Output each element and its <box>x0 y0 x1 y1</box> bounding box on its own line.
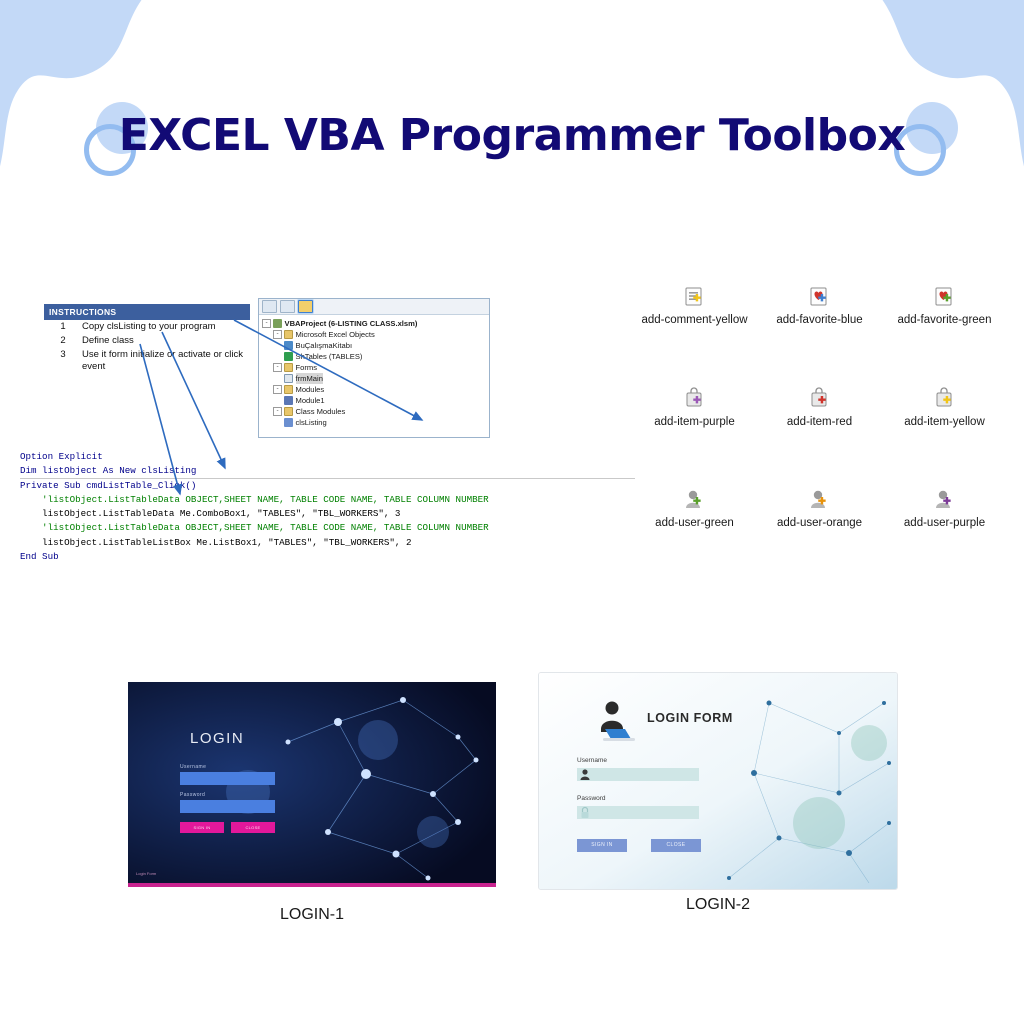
login-1-thumbnail[interactable]: LOGIN Username Password SIGN IN CLOSE Lo… <box>128 682 496 887</box>
add-user-green-icon <box>682 487 708 513</box>
instruction-row: 3Use it form initialize or activate or c… <box>44 348 250 374</box>
module-icon <box>284 396 293 405</box>
view-code-button[interactable] <box>262 300 277 313</box>
instructions-panel: INSTRUCTIONS 1Copy clsListing to your pr… <box>44 304 250 374</box>
icon-holder <box>632 282 757 310</box>
add-comment-yellow-icon <box>682 284 708 310</box>
login-1-title: LOGIN <box>190 730 244 747</box>
icon-grid-row: add-user-greenadd-user-orangeadd-user-pu… <box>632 485 1008 531</box>
view-object-button[interactable] <box>280 300 295 313</box>
tree-node-label: Module1 <box>296 395 325 406</box>
tree-expander[interactable]: - <box>273 330 282 339</box>
tree-node[interactable]: -Forms <box>262 362 487 373</box>
login-2-close-label: CLOSE <box>651 839 701 852</box>
code-line: Option Explicit <box>20 450 635 464</box>
login-1-form: LOGIN Username Password SIGN IN CLOSE Lo… <box>128 682 496 887</box>
login-2-sign-in-button[interactable]: SIGN IN <box>577 839 627 852</box>
icon-label: add-user-orange <box>757 516 882 531</box>
icon-holder <box>757 282 882 310</box>
tree-node-label: Forms <box>296 362 318 373</box>
login-2-title: LOGIN FORM <box>647 711 733 725</box>
tree-node[interactable]: BuÇalışmaKitabı <box>262 340 487 351</box>
icon-holder <box>632 485 757 513</box>
add-item-yellow-icon <box>932 386 958 412</box>
login-1-footer: Login Form <box>136 871 156 876</box>
code-line: 'listObject.ListTableData OBJECT,SHEET N… <box>20 493 635 507</box>
tree-node-label: BuÇalışmaKitabı <box>296 340 353 351</box>
instruction-text: Copy clsListing to your program <box>82 321 250 333</box>
folder-icon <box>284 330 293 339</box>
icon-holder <box>757 485 882 513</box>
tree-node-label: Class Modules <box>296 406 346 417</box>
folder-icon <box>284 363 293 372</box>
page-title: EXCEL VBA Programmer Toolbox <box>0 110 1024 161</box>
tree-node-label: ShTables (TABLES) <box>296 351 363 362</box>
icon-grid-row: add-comment-yellowadd-favorite-blueadd-f… <box>632 282 1008 328</box>
workbook-icon <box>284 341 293 350</box>
icon-grid-cell[interactable]: add-user-orange <box>757 485 882 531</box>
instruction-text: Use it form initialize or activate or cl… <box>82 349 250 373</box>
icon-holder <box>882 384 1007 412</box>
instructions-header: INSTRUCTIONS <box>44 304 250 320</box>
icon-label: add-item-purple <box>632 415 757 430</box>
tree-node[interactable]: clsListing <box>262 417 487 428</box>
tree-node-label: clsListing <box>296 417 327 428</box>
login-1-password-input[interactable] <box>180 800 275 813</box>
login-2-close-button[interactable]: CLOSE <box>651 839 701 852</box>
tree-node-label: frmMain <box>296 373 323 384</box>
tree-node-label: Microsoft Excel Objects <box>296 329 375 340</box>
add-user-purple-icon <box>932 487 958 513</box>
login-2-form: LOGIN FORM Username Password SIGN IN CLO… <box>538 672 898 890</box>
login-1-close-button[interactable]: CLOSE <box>231 822 275 833</box>
login-2-username-label: Username <box>577 757 607 764</box>
lock-icon <box>579 806 591 819</box>
person-icon <box>579 768 591 781</box>
icon-holder <box>882 485 1007 513</box>
instruction-number: 1 <box>44 321 82 333</box>
add-user-orange-icon <box>807 487 833 513</box>
code-line: listObject.ListTableListBox Me.ListBox1,… <box>20 536 635 550</box>
tree-expander[interactable]: - <box>273 407 282 416</box>
icon-label: add-user-purple <box>882 516 1007 531</box>
code-editor[interactable]: Option ExplicitDim listObject As New cls… <box>20 450 635 564</box>
user-laptop-icon <box>591 699 637 745</box>
code-line: End Sub <box>20 550 635 564</box>
icon-label: add-favorite-green <box>882 313 1007 328</box>
icon-grid: add-comment-yellowadd-favorite-blueadd-f… <box>632 282 1008 587</box>
login-2-password-input[interactable] <box>577 806 699 819</box>
instruction-text: Define class <box>82 335 250 347</box>
add-item-purple-icon <box>682 386 708 412</box>
login-1-username-label: Username <box>180 764 206 770</box>
tree-node[interactable]: ShTables (TABLES) <box>262 351 487 362</box>
code-line: 'listObject.ListTableData OBJECT,SHEET N… <box>20 521 635 535</box>
icon-holder <box>757 384 882 412</box>
project-explorer-toolbar <box>259 299 489 315</box>
instruction-row: 1Copy clsListing to your program <box>44 320 250 334</box>
icon-grid-cell[interactable]: add-favorite-green <box>882 282 1007 328</box>
class-module-icon <box>284 418 293 427</box>
icon-grid-cell[interactable]: add-favorite-blue <box>757 282 882 328</box>
project-icon <box>273 319 282 328</box>
tree-node[interactable]: -VBAProject (6-LISTING CLASS.xlsm) <box>262 318 487 329</box>
icon-label: add-favorite-blue <box>757 313 882 328</box>
login-2-thumbnail[interactable]: LOGIN FORM Username Password SIGN IN CLO… <box>538 672 898 890</box>
toggle-folders-button[interactable] <box>298 300 313 313</box>
add-favorite-green-icon <box>932 284 958 310</box>
icon-label: add-item-red <box>757 415 882 430</box>
code-line: listObject.ListTableData Me.ComboBox1, "… <box>20 507 635 521</box>
tree-node-label: Modules <box>296 384 325 395</box>
icon-grid-cell[interactable]: add-comment-yellow <box>632 282 757 328</box>
tree-node[interactable]: -Modules <box>262 384 487 395</box>
tree-node[interactable]: -Class Modules <box>262 406 487 417</box>
vbe-screenshot: INSTRUCTIONS 1Copy clsListing to your pr… <box>20 298 640 598</box>
tree-expander[interactable]: - <box>273 385 282 394</box>
icon-grid-cell[interactable]: add-item-red <box>757 384 882 430</box>
login-1-caption: LOGIN-1 <box>128 906 496 924</box>
folder-icon <box>284 385 293 394</box>
code-line: Dim listObject As New clsListing <box>20 464 635 478</box>
tree-node[interactable]: Module1 <box>262 395 487 406</box>
icon-holder <box>882 282 1007 310</box>
login-2-username-input[interactable] <box>577 768 699 781</box>
icon-label: add-comment-yellow <box>632 313 757 328</box>
instruction-row: 2Define class <box>44 334 250 348</box>
login-2-sign-in-label: SIGN IN <box>577 839 627 852</box>
login-1-sign-in-button[interactable]: SIGN IN <box>180 822 224 833</box>
add-item-red-icon <box>807 386 833 412</box>
project-tree[interactable]: -VBAProject (6-LISTING CLASS.xlsm)-Micro… <box>259 315 489 428</box>
icon-label: add-item-yellow <box>882 415 1007 430</box>
icon-label: add-user-green <box>632 516 757 531</box>
instructions-list: 1Copy clsListing to your program2Define … <box>44 320 250 374</box>
tree-node[interactable]: frmMain <box>262 373 487 384</box>
icon-grid-cell[interactable]: add-item-purple <box>632 384 757 430</box>
login-1-password-label: Password <box>180 792 205 798</box>
tree-expander[interactable]: - <box>273 363 282 372</box>
icon-grid-cell[interactable]: add-user-green <box>632 485 757 531</box>
code-line: Private Sub cmdListTable_Click() <box>20 479 635 493</box>
instruction-number: 3 <box>44 349 82 373</box>
tree-node[interactable]: -Microsoft Excel Objects <box>262 329 487 340</box>
login-2-password-label: Password <box>577 795 606 802</box>
tree-node-label: VBAProject (6-LISTING CLASS.xlsm) <box>285 318 418 329</box>
icon-grid-row: add-item-purpleadd-item-redadd-item-yell… <box>632 384 1008 430</box>
icon-grid-cell[interactable]: add-user-purple <box>882 485 1007 531</box>
login-1-close-label: CLOSE <box>231 822 275 833</box>
add-favorite-blue-icon <box>807 284 833 310</box>
userform-icon <box>284 374 293 383</box>
icon-grid-cell[interactable]: add-item-yellow <box>882 384 1007 430</box>
tree-expander[interactable]: - <box>262 319 271 328</box>
worksheet-icon <box>284 352 293 361</box>
login-2-caption: LOGIN-2 <box>538 896 898 914</box>
project-explorer-panel: -VBAProject (6-LISTING CLASS.xlsm)-Micro… <box>258 298 490 438</box>
login-1-sign-in-label: SIGN IN <box>180 822 224 833</box>
instruction-number: 2 <box>44 335 82 347</box>
folder-icon <box>284 407 293 416</box>
login-1-username-input[interactable] <box>180 772 275 785</box>
icon-holder <box>632 384 757 412</box>
